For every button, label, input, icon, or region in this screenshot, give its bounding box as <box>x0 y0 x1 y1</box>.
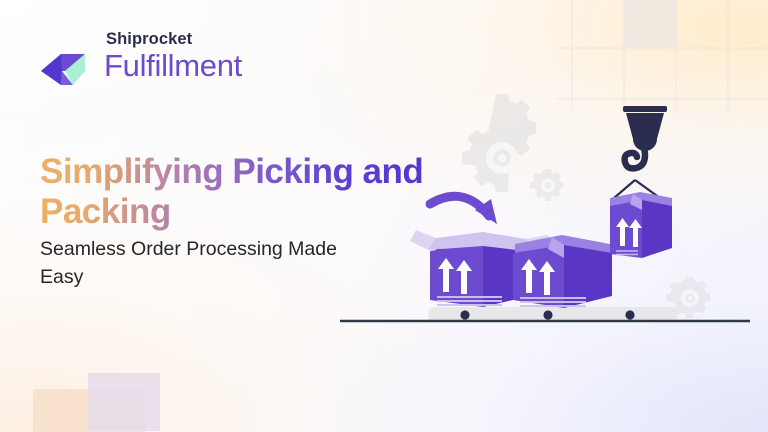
curved-drop-arrow <box>430 196 497 224</box>
brand-logo[interactable]: Shiprocket Fulfillment <box>40 30 260 92</box>
brand-name-top: Shiprocket <box>106 30 192 49</box>
closed-box <box>513 235 612 308</box>
conveyor-roller <box>543 310 552 319</box>
picking-and-packing-illustration <box>330 88 760 338</box>
shiprocket-arrow-icon <box>40 52 86 86</box>
brand-name-bottom: Fulfillment <box>104 48 242 84</box>
conveyor-roller <box>625 310 634 319</box>
decor-square-peach <box>33 389 145 432</box>
gear-small <box>530 169 564 201</box>
hoisted-box <box>610 192 672 258</box>
decor-square-lavender <box>88 373 160 431</box>
gear-large <box>462 94 536 192</box>
marketing-banner: Shiprocket Fulfillment Simplifying Picki… <box>0 0 768 432</box>
crane-hoist <box>623 106 667 168</box>
grid-filled-cell <box>624 0 676 48</box>
conveyor-roller <box>460 310 469 319</box>
page-subtitle: Seamless Order Processing Made Easy <box>40 235 380 292</box>
